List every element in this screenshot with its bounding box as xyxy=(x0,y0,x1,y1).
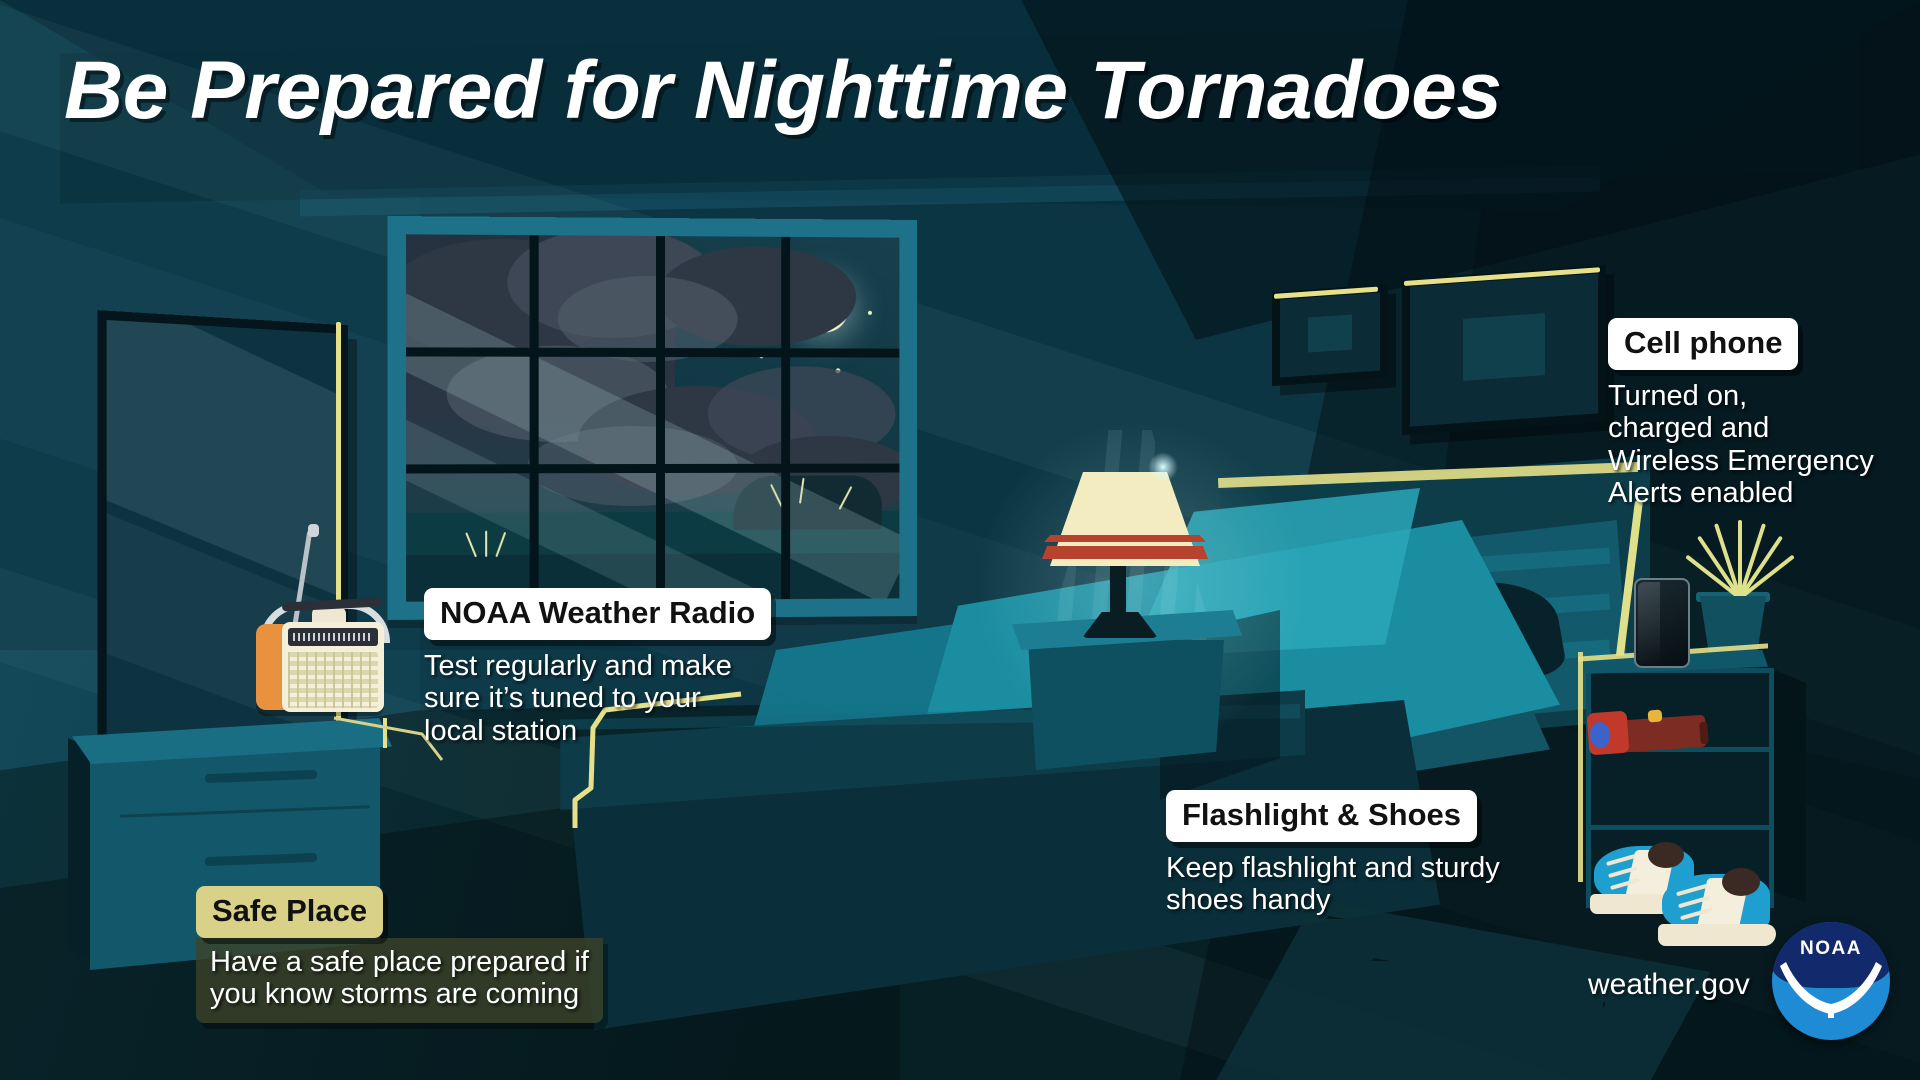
infographic-poster: Be Prepared for Nighttime Tornadoes NOAA… xyxy=(0,0,1920,1080)
callout-line: Test regularly and make xyxy=(424,650,771,682)
weather-gov-url[interactable]: weather.gov xyxy=(1588,968,1750,1002)
radio-antenna-tip xyxy=(308,524,319,537)
page-title: Be Prepared for Nighttime Tornadoes xyxy=(64,44,1501,138)
dresser-gold-edge xyxy=(383,718,387,748)
bedroom-window xyxy=(388,216,917,620)
sneaker-right xyxy=(1658,868,1776,956)
star xyxy=(868,311,872,315)
callout-line: sure it’s tuned to your xyxy=(424,682,771,714)
lamp-shade-stripe xyxy=(1044,535,1206,542)
lamp-light-point xyxy=(1148,452,1178,482)
noaa-logo: NOAA xyxy=(1772,922,1890,1040)
callout-label-cell-phone: Cell phone xyxy=(1608,318,1798,370)
window-glass xyxy=(406,234,899,601)
noaa-weather-radio xyxy=(238,540,398,720)
grass-blade xyxy=(485,531,487,557)
window-mullion xyxy=(530,235,539,601)
callout-line: Keep flashlight and sturdy xyxy=(1166,852,1500,884)
callout-safe-place: Safe Place Have a safe place prepared if… xyxy=(196,886,603,1023)
phone-screen-glare xyxy=(1638,582,1660,664)
wall-picture-frame-small xyxy=(1272,284,1388,386)
callout-label-noaa-weather-radio: NOAA Weather Radio xyxy=(424,588,771,640)
callout-body-safe-place: Have a safe place prepared if you know s… xyxy=(196,938,603,1023)
picture-frame-art xyxy=(1463,313,1546,380)
noaa-seagull-icon xyxy=(1778,962,1884,1028)
callout-line: Turned on, xyxy=(1608,380,1874,412)
shoe-collar xyxy=(1648,842,1684,868)
callout-body-noaa-weather-radio: Test regularly and make sure it’s tuned … xyxy=(424,650,771,747)
callout-body-flashlight-shoes: Keep flashlight and sturdy shoes handy xyxy=(1166,852,1500,917)
wall-picture-frame-large xyxy=(1402,265,1606,435)
callout-line: local station xyxy=(424,715,771,747)
radio-tuner-dial xyxy=(288,628,378,646)
shelf-gold-edge xyxy=(1578,652,1583,882)
callout-cell-phone: Cell phone Turned on, charged and Wirele… xyxy=(1608,318,1874,510)
callout-flashlight-shoes: Flashlight & Shoes Keep flashlight and s… xyxy=(1166,790,1500,917)
callout-noaa-weather-radio: NOAA Weather Radio Test regularly and ma… xyxy=(424,588,771,747)
callout-line: shoes handy xyxy=(1166,884,1500,916)
lamp-stand xyxy=(1110,562,1126,624)
callout-line: you know storms are coming xyxy=(210,978,589,1010)
window-mullion xyxy=(406,347,899,357)
flashlight-end-cap xyxy=(1699,722,1709,745)
window-mullion xyxy=(656,236,665,600)
window-mullion xyxy=(781,237,790,599)
shoe-sole xyxy=(1658,924,1776,946)
cell-phone[interactable] xyxy=(1634,578,1690,668)
nightstand-body xyxy=(1028,640,1224,770)
radio-speaker-grille xyxy=(288,652,378,708)
noaa-logo-wordmark: NOAA xyxy=(1772,938,1890,960)
shelf-divider xyxy=(1591,825,1769,830)
lamp-shade-stripe xyxy=(1042,546,1208,559)
flashlight-switch[interactable] xyxy=(1648,710,1663,723)
callout-body-cell-phone: Turned on, charged and Wireless Emergenc… xyxy=(1608,380,1874,510)
callout-label-flashlight-shoes: Flashlight & Shoes xyxy=(1166,790,1477,842)
callout-line: Alerts enabled xyxy=(1608,477,1874,509)
callout-line: charged and xyxy=(1608,412,1874,444)
potted-plant-leaves xyxy=(1694,520,1784,600)
callout-line: Wireless Emergency xyxy=(1608,445,1874,477)
window-mullion xyxy=(406,464,899,474)
picture-frame-art xyxy=(1308,315,1352,352)
callout-line: Have a safe place prepared if xyxy=(210,946,589,978)
callout-label-safe-place: Safe Place xyxy=(196,886,383,938)
sneakers-pair xyxy=(1590,836,1790,956)
shoe-collar xyxy=(1722,868,1760,896)
